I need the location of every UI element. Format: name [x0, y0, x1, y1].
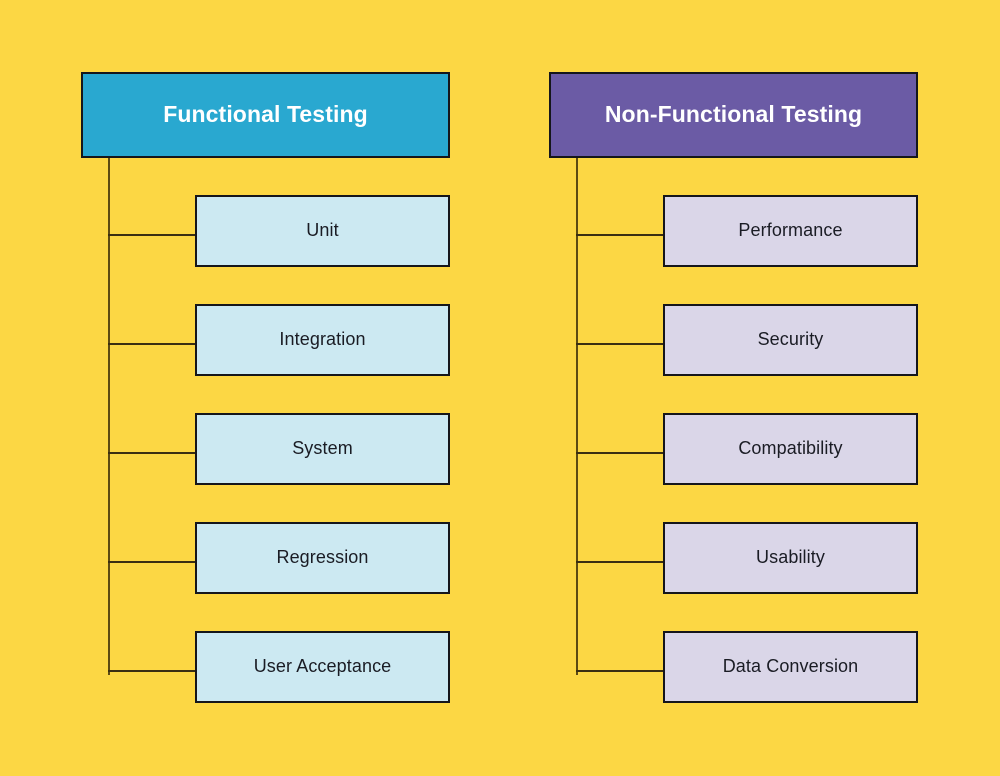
child-node-non-functional-3-label: Usability — [750, 548, 831, 568]
diagram-canvas: Functional Testing Unit Integration Syst… — [0, 0, 1000, 776]
branch-connector-non-functional-0 — [576, 234, 665, 236]
child-node-non-functional-1-label: Security — [752, 330, 830, 350]
branch-connector-non-functional-2 — [576, 452, 665, 454]
branch-connector-non-functional-3 — [576, 561, 665, 563]
child-node-non-functional-4-label: Data Conversion — [717, 657, 865, 677]
child-node-non-functional-2[interactable]: Compatibility — [663, 413, 918, 485]
child-node-non-functional-3[interactable]: Usability — [663, 522, 918, 594]
branch-connector-non-functional-4 — [576, 670, 665, 672]
header-node-non-functional[interactable]: Non-Functional Testing — [549, 72, 918, 158]
child-node-non-functional-2-label: Compatibility — [732, 439, 848, 459]
child-node-non-functional-4[interactable]: Data Conversion — [663, 631, 918, 703]
branch-connector-non-functional-1 — [576, 343, 665, 345]
child-node-non-functional-1[interactable]: Security — [663, 304, 918, 376]
header-node-non-functional-label: Non-Functional Testing — [599, 102, 868, 127]
column-non-functional: Non-Functional Testing Performance Secur… — [0, 0, 1000, 776]
child-node-non-functional-0-label: Performance — [732, 221, 848, 241]
child-node-non-functional-0[interactable]: Performance — [663, 195, 918, 267]
